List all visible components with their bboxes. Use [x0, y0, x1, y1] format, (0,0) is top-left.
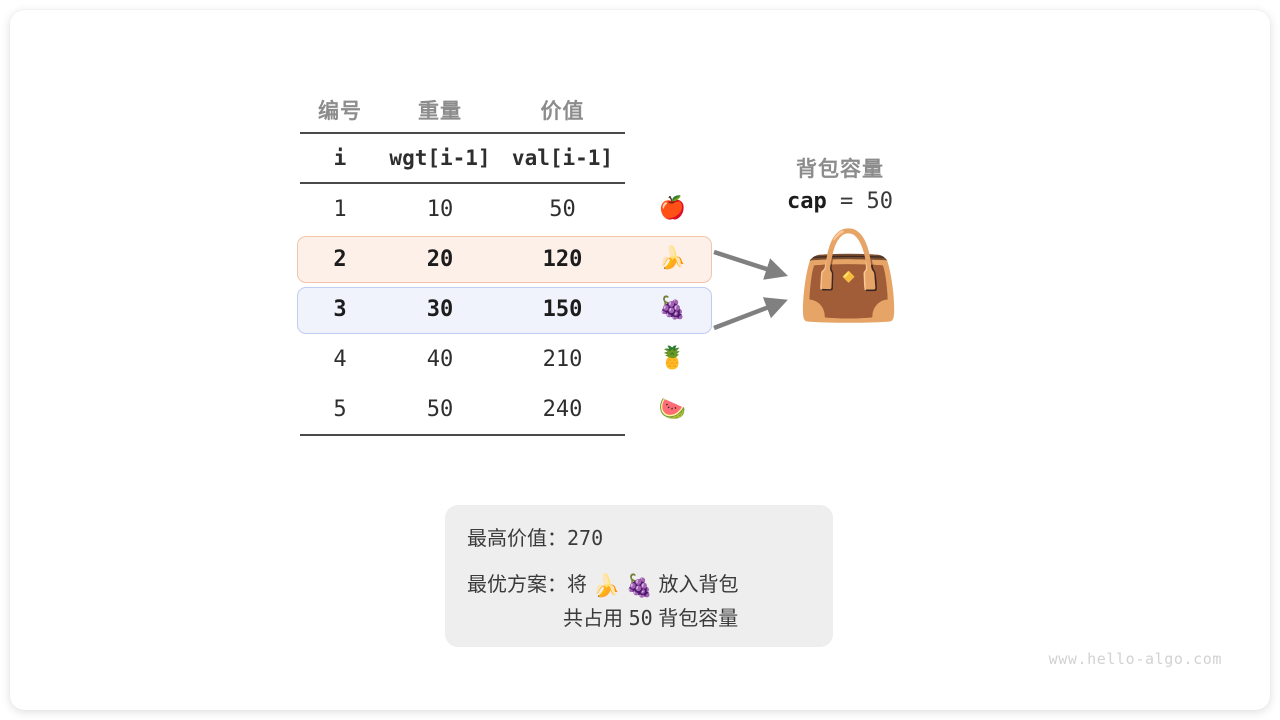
apple-emoji: 🍎: [625, 184, 720, 234]
table-row: 5 50 240 🍉: [300, 384, 720, 435]
cell-index: 1: [300, 184, 380, 234]
header-code-val: val[i-1]: [500, 134, 625, 183]
table-row: 4 40 210 🍍: [300, 334, 720, 384]
watermelon-emoji: 🍉: [625, 384, 720, 435]
cell-index: 4: [300, 334, 380, 384]
banana-emoji: 🍌: [593, 574, 620, 599]
header-code-wgt: wgt[i-1]: [380, 134, 500, 183]
cell-weight: 20: [380, 234, 500, 284]
cell-value: 120: [500, 234, 625, 284]
result-usage-line: 共占用 50 背包容量: [563, 608, 833, 629]
result-max-value-label: 最高价值：: [467, 528, 567, 550]
table-rule-bottom: [300, 435, 720, 436]
header-code-spacer: [625, 134, 720, 183]
cell-weight: 50: [380, 384, 500, 435]
result-plan-suffix: 放入背包: [659, 574, 739, 596]
header-cn-spacer: [625, 88, 720, 133]
grapes-emoji: 🍇: [625, 284, 720, 334]
result-plan-label: 最优方案：将: [467, 574, 587, 596]
table-header-code-row: i wgt[i-1] val[i-1]: [300, 134, 720, 183]
cell-value: 50: [500, 184, 625, 234]
table-row: 1 10 50 🍎: [300, 184, 720, 234]
items-table-wrapper: 编号 重量 价值 i wgt[i-1] val[i-1]: [300, 88, 720, 436]
cell-index: 5: [300, 384, 380, 435]
cap-key: cap: [787, 189, 827, 214]
cell-weight: 40: [380, 334, 500, 384]
result-panel: 最高价值：270 最优方案：将 🍌 🍇 放入背包 共占用 50 背包容量: [445, 505, 833, 647]
header-cn-weight: 重量: [380, 88, 500, 133]
table-row: 2 20 120 🍌: [300, 234, 720, 284]
cap-equals: =: [840, 189, 853, 214]
result-usage-number: 50: [629, 606, 653, 630]
cell-index: 3: [300, 284, 380, 334]
header-cn-value: 价值: [500, 88, 625, 133]
cell-weight: 10: [380, 184, 500, 234]
knapsack-capacity-expression: cap = 50: [740, 189, 940, 214]
diagram-canvas: 编号 重量 价值 i wgt[i-1] val[i-1]: [0, 0, 1280, 720]
arrow-right-icon: [712, 246, 804, 342]
table-header-cn-row: 编号 重量 价值: [300, 88, 720, 133]
banana-emoji: 🍌: [625, 234, 720, 284]
result-max-value-line: 最高价值：270: [467, 528, 833, 549]
grapes-emoji: 🍇: [626, 574, 653, 599]
watermark: www.hello-algo.com: [1049, 650, 1222, 668]
handbag-emoji: 👜: [795, 233, 902, 319]
cell-value: 240: [500, 384, 625, 435]
knapsack-capacity-label: 背包容量: [740, 153, 940, 183]
header-cn-index: 编号: [300, 88, 380, 133]
items-table: 编号 重量 价值 i wgt[i-1] val[i-1]: [300, 88, 720, 436]
header-code-i: i: [300, 134, 380, 183]
cell-index: 2: [300, 234, 380, 284]
cell-value: 210: [500, 334, 625, 384]
result-max-value-number: 270: [567, 526, 603, 550]
arrows-group: [712, 246, 804, 342]
pineapple-emoji: 🍍: [625, 334, 720, 384]
result-usage-prefix: 共占用: [563, 608, 623, 630]
table-row: 3 30 150 🍇: [300, 284, 720, 334]
cell-weight: 30: [380, 284, 500, 334]
result-usage-suffix: 背包容量: [658, 608, 738, 630]
cap-value: 50: [867, 189, 894, 214]
result-plan-line: 最优方案：将 🍌 🍇 放入背包: [467, 575, 833, 598]
cell-value: 150: [500, 284, 625, 334]
